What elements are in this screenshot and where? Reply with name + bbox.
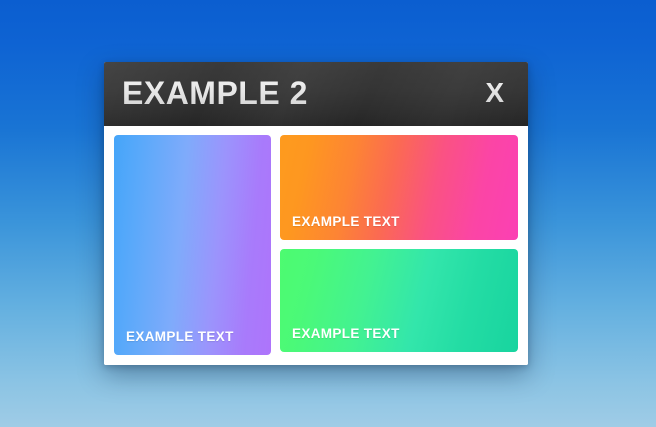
- card-orange-pink[interactable]: EXAMPLE TEXT: [280, 135, 518, 240]
- left-column: EXAMPLE TEXT: [114, 135, 271, 355]
- card-label: EXAMPLE TEXT: [280, 327, 400, 353]
- desktop-background: EXAMPLE 2 X EXAMPLE TEXT EXAMPLE TEXT EX…: [0, 0, 656, 427]
- card-label: EXAMPLE TEXT: [114, 330, 234, 356]
- card-green-teal[interactable]: EXAMPLE TEXT: [280, 249, 518, 352]
- window-titlebar[interactable]: EXAMPLE 2 X: [104, 62, 528, 126]
- card-blue-purple[interactable]: EXAMPLE TEXT: [114, 135, 271, 355]
- right-column: EXAMPLE TEXT EXAMPLE TEXT: [280, 135, 518, 355]
- card-label: EXAMPLE TEXT: [280, 215, 400, 241]
- window-title: EXAMPLE 2: [122, 77, 308, 112]
- application-window: EXAMPLE 2 X EXAMPLE TEXT EXAMPLE TEXT EX…: [104, 62, 528, 365]
- close-icon[interactable]: X: [481, 77, 508, 112]
- window-content: EXAMPLE TEXT EXAMPLE TEXT EXAMPLE TEXT: [104, 126, 528, 365]
